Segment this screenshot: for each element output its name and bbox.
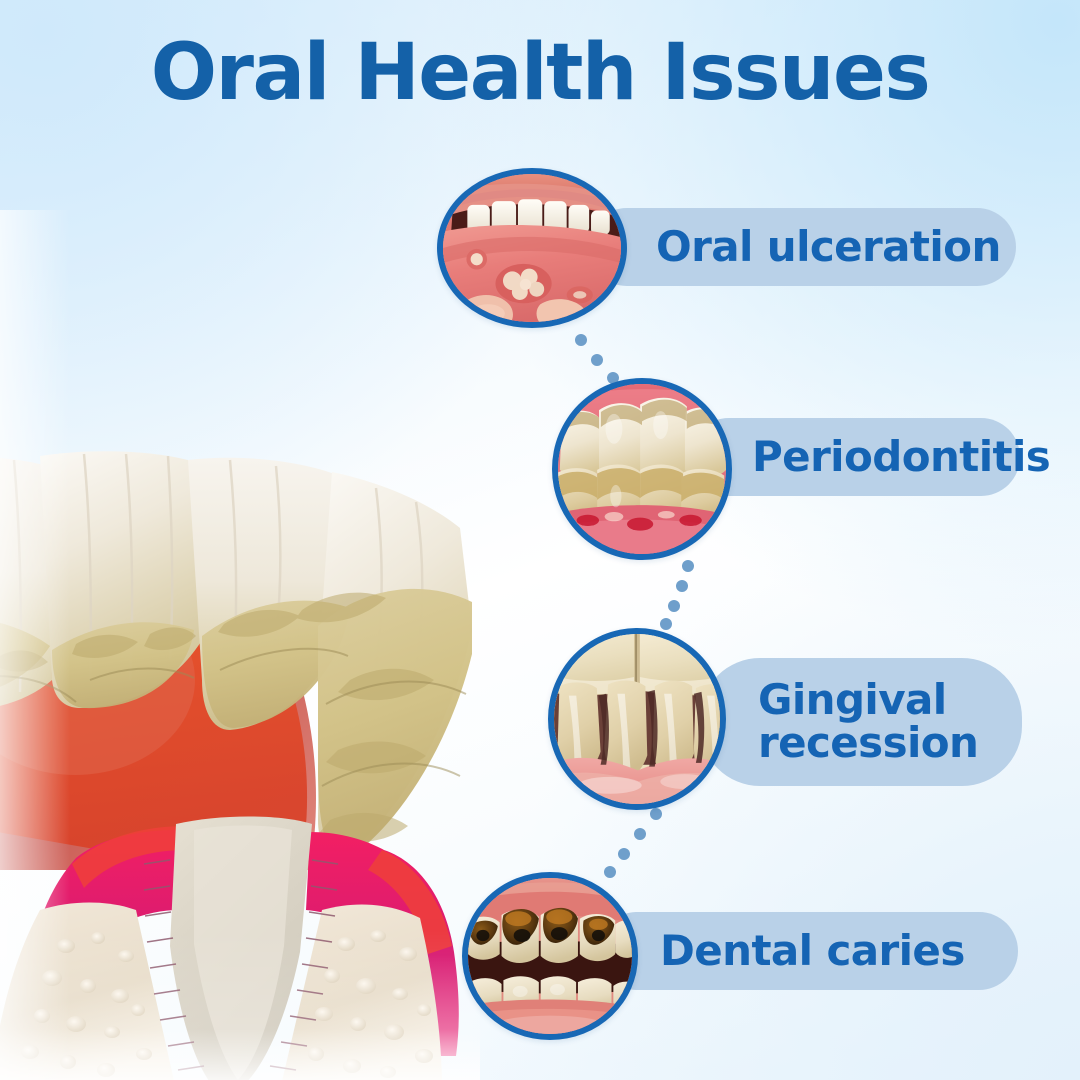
page-title: Oral Health Issues: [0, 30, 1080, 116]
label-pill-periodontitis[interactable]: Periodontitis: [690, 418, 1020, 496]
connector-dots-3: [600, 808, 660, 878]
oral-ulceration-photo[interactable]: [437, 168, 627, 328]
connector-dots-2: [660, 560, 710, 630]
label-text-periodontitis: Periodontitis: [752, 436, 1050, 479]
dental-caries-photo[interactable]: [462, 872, 638, 1040]
label-pill-dental-caries[interactable]: Dental caries: [598, 912, 1018, 990]
label-pill-gingival-recession[interactable]: Gingival recession: [700, 658, 1022, 786]
gingival-recession-photo[interactable]: [548, 628, 726, 810]
label-text-gingival-recession: Gingival recession: [758, 679, 978, 765]
infographic-canvas: Oral Health Issues: [0, 0, 1080, 1080]
label-text-oral-ulceration: Oral ulceration: [656, 226, 1001, 269]
label-pill-oral-ulceration[interactable]: Oral ulceration: [588, 208, 1016, 286]
periodontal-disease-illustration: [0, 210, 480, 1080]
label-text-dental-caries: Dental caries: [660, 930, 965, 973]
periodontitis-photo[interactable]: [552, 378, 732, 560]
